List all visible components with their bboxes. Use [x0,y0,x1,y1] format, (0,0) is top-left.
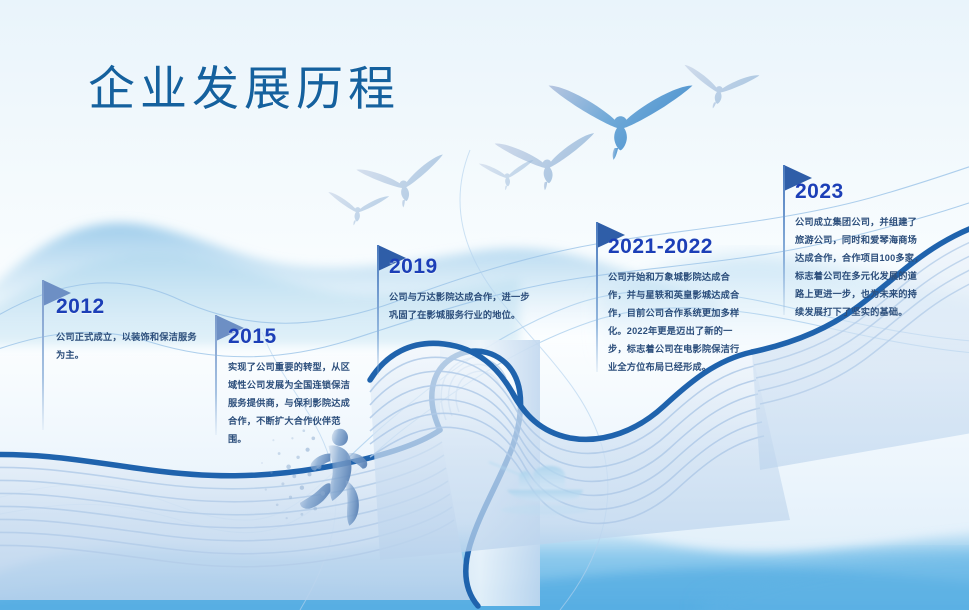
bird-icon [549,86,693,160]
flag-pole [783,165,785,315]
ribbon-left-segment [0,430,470,600]
flag-pole [215,315,217,435]
milestone-2023[interactable]: 2023 公司成立集团公司，并组建了旅游公司，同时和爱琴海商场达成合作，合作项目… [795,180,925,322]
bird-icon [479,160,536,192]
milestone-2021-2022[interactable]: 2021-2022 公司开始和万象城影院达成合作，并与星轶和英皇影城达成合作，目… [608,235,740,377]
milestone-year: 2019 [389,255,539,279]
ribbon-middle-fold [432,340,540,606]
milestone-2019[interactable]: 2019 公司与万达影院达成合作，进一步巩固了在影城服务行业的地位。 [389,255,539,325]
flag-pole [377,245,379,375]
milestone-description: 公司正式成立，以装饰和保洁服务为主。 [56,329,204,365]
milestone-2015[interactable]: 2015 实现了公司重要的转型，从区域性公司发展为全国连锁保洁服务提供商，与保利… [228,325,352,449]
flag-pole [596,222,598,372]
milestone-year: 2023 [795,180,925,204]
milestone-description: 公司开始和万象城影院达成合作，并与星轶和英皇影城达成合作，目前公司合作系统更加多… [608,269,740,377]
bird-icon [495,133,600,195]
bird-icon [679,65,759,114]
milestone-description: 公司成立集团公司，并组建了旅游公司，同时和爱琴海商场达成合作，合作项目100多家… [795,214,925,322]
bird-icon [356,154,450,214]
milestone-description: 公司与万达影院达成合作，进一步巩固了在影城服务行业的地位。 [389,289,539,325]
milestone-2012[interactable]: 2012 公司正式成立，以装饰和保洁服务为主。 [56,295,204,365]
page-title: 企业发展历程 [88,63,400,115]
milestone-year: 2012 [56,295,204,319]
flag-pole [42,280,44,430]
poster-canvas: 企业发展历程 2012 公司正式成立，以装饰和保洁服务为主。 2015 实现了公… [0,0,969,610]
bird-icon [326,192,389,228]
milestone-year: 2015 [228,325,352,349]
mountain-wash-bottom-right [700,552,969,610]
milestone-year: 2021-2022 [608,235,740,259]
milestone-description: 实现了公司重要的转型，从区域性公司发展为全国连锁保洁服务提供商，与保利影院达成合… [228,359,352,449]
mountain-wash-bottom [0,523,969,610]
